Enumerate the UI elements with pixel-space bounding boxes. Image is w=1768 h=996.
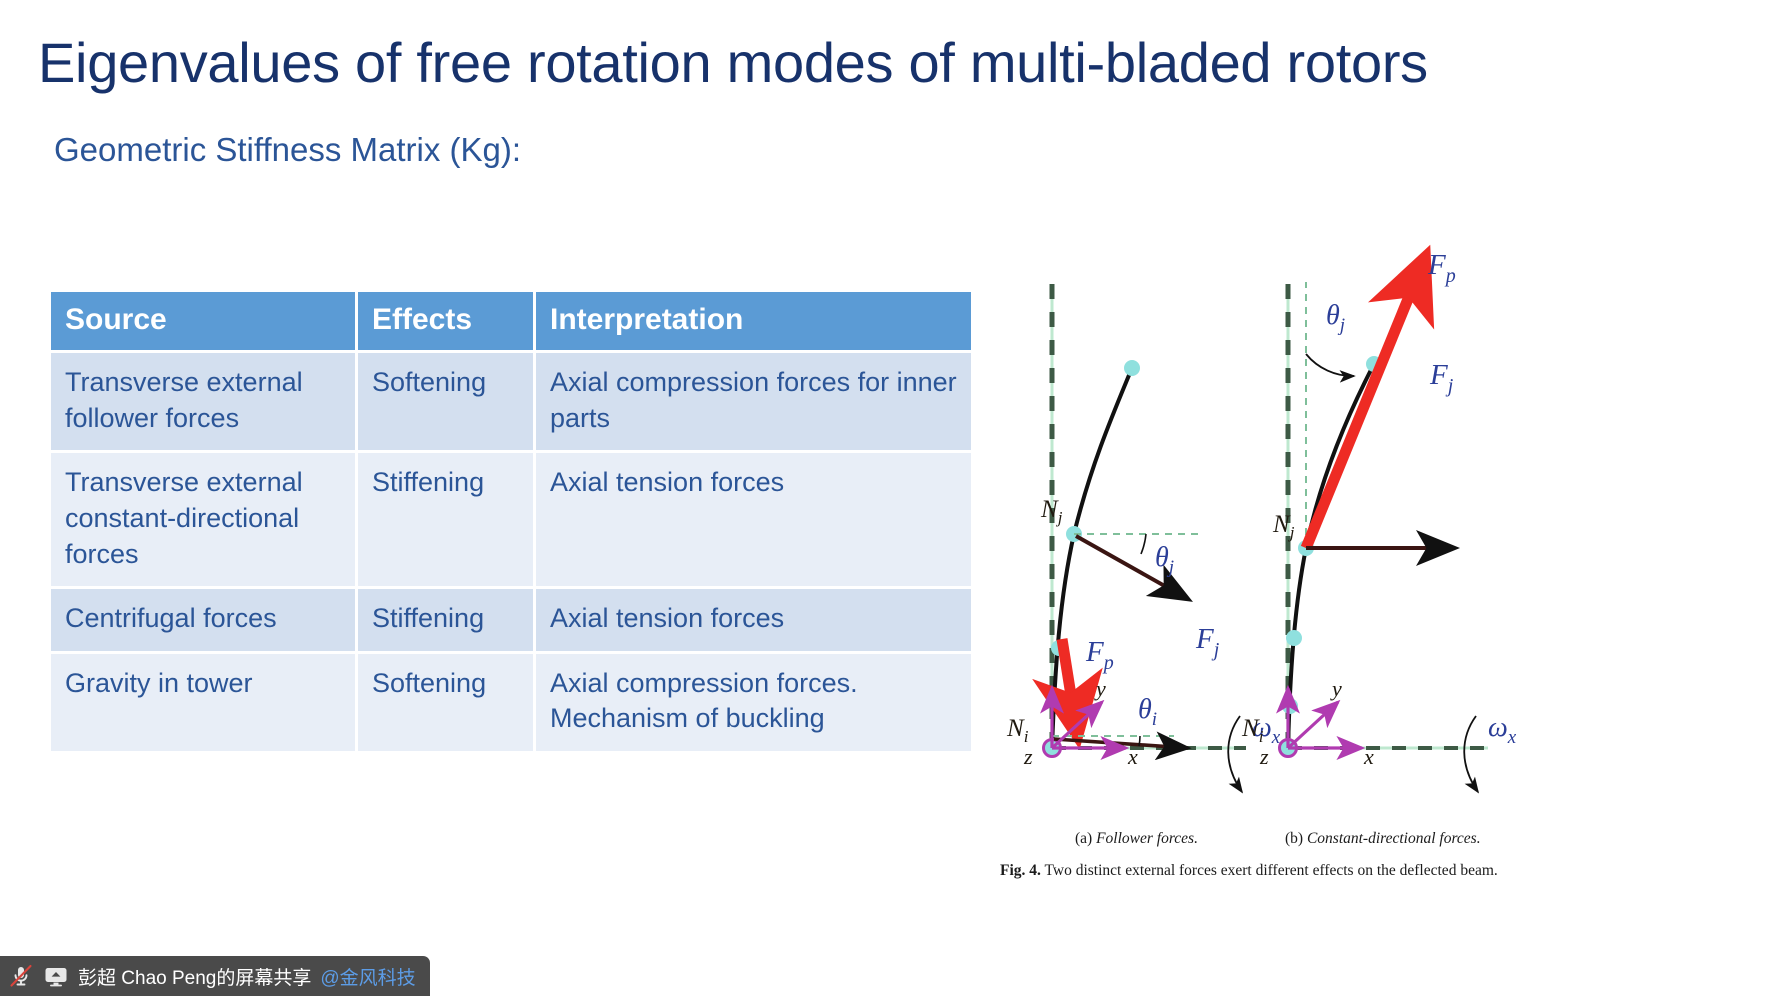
microphone-muted-icon[interactable] (8, 963, 34, 989)
label-node-i-a: Ni (1006, 715, 1029, 746)
label-theta-i-a: θi (1138, 694, 1157, 730)
theta-i-arc-a (1139, 736, 1140, 746)
figure-caption-prefix: Fig. 4. (1000, 862, 1041, 879)
subfigure-a-follower-forces: Nj Ni θj Fj Fp θi z y x ωx (1006, 284, 1281, 792)
label-force-j-a: Fj (1195, 623, 1220, 661)
table-row: Gravity in tower Softening Axial compres… (51, 651, 971, 751)
table-header-row: Source Effects Interpretation (51, 292, 971, 350)
cell-effects: Stiffening (358, 586, 536, 651)
table-row: Transverse external constant-directional… (51, 450, 971, 586)
force-fp-arrow-b (1306, 260, 1424, 548)
subfigure-caption-a: (a) Follower forces. (1075, 830, 1198, 848)
node-dot (1286, 630, 1302, 646)
theta-j-arc-a (1141, 534, 1146, 554)
figure-caption: Fig. 4. Two distinct external forces exe… (1000, 862, 1600, 880)
cell-interpretation: Axial tension forces (536, 450, 971, 586)
cell-effects: Softening (358, 350, 536, 450)
cell-source: Transverse external constant-directional… (51, 450, 358, 586)
label-force-p-a: Fp (1085, 636, 1114, 674)
column-header-effects: Effects (358, 292, 536, 350)
label-axis-x-a: x (1127, 744, 1138, 769)
omega-x-arc-a (1228, 716, 1242, 792)
cell-source: Transverse external follower forces (51, 350, 358, 450)
omega-x-arc-b (1464, 716, 1478, 792)
subfigure-label-b: (b) (1285, 830, 1303, 847)
label-theta-j-b: θj (1326, 300, 1345, 336)
label-force-p-b: Fp (1427, 249, 1456, 287)
cell-interpretation: Axial compression forces for inner parts (536, 350, 971, 450)
subfigure-text-b: Constant-directional forces. (1307, 830, 1481, 847)
label-axis-y-b: y (1330, 676, 1342, 701)
column-header-interpretation: Interpretation (536, 292, 971, 350)
cell-source: Centrifugal forces (51, 586, 358, 651)
subfigure-label-a: (a) (1075, 830, 1092, 847)
page-title: Eigenvalues of free rotation modes of mu… (38, 32, 1428, 94)
cell-effects: Stiffening (358, 450, 536, 586)
column-header-source: Source (51, 292, 358, 350)
label-omega-x-b: ωx (1488, 712, 1517, 748)
stiffness-sources-table: Source Effects Interpretation Transverse… (51, 292, 971, 751)
cell-interpretation: Axial compression forces. Mechanism of b… (536, 651, 971, 751)
subfigure-text-a: Follower forces. (1096, 830, 1198, 847)
screen-share-status-bar[interactable]: 彭超 Chao Peng的屏幕共享 @金风科技 (0, 956, 430, 996)
node-dot (1282, 698, 1298, 714)
deflected-beam-a (1052, 368, 1132, 748)
cell-source: Gravity in tower (51, 651, 358, 751)
subfigure-caption-b: (b) Constant-directional forces. (1285, 830, 1481, 848)
beam-force-figure: Nj Ni θj Fj Fp θi z y x ωx (1000, 236, 1560, 896)
label-axis-y-a: y (1094, 676, 1106, 701)
presentation-slide: Eigenvalues of free rotation modes of mu… (0, 0, 1768, 996)
figure-caption-text: Two distinct external forces exert diffe… (1045, 862, 1498, 879)
label-node-j-b: Nj (1272, 511, 1295, 542)
node-dot (1124, 360, 1140, 376)
label-theta-j-a: θj (1155, 542, 1174, 578)
share-org-label: @金风科技 (320, 963, 415, 990)
label-force-j-b: Fj (1429, 359, 1454, 397)
cell-effects: Softening (358, 651, 536, 751)
table-row: Transverse external follower forces Soft… (51, 350, 971, 450)
label-axis-z-b: z (1259, 744, 1269, 769)
subfigure-b-constant-directional-forces: Nj Ni θj Fp Fj z y x ωx (1241, 249, 1517, 792)
section-subtitle: Geometric Stiffness Matrix (Kg): (54, 130, 521, 170)
table-row: Centrifugal forces Stiffening Axial tens… (51, 586, 971, 651)
stiffness-sources-table-wrapper: Source Effects Interpretation Transverse… (51, 292, 971, 751)
force-fp-arrow-a (1062, 639, 1077, 733)
label-axis-x-b: x (1363, 744, 1374, 769)
theta-j-arc-b (1306, 354, 1354, 376)
label-node-j-a: Nj (1040, 496, 1063, 527)
screen-share-icon[interactable] (43, 963, 69, 989)
share-owner-label: 彭超 Chao Peng的屏幕共享 (78, 963, 311, 990)
cell-interpretation: Axial tension forces (536, 586, 971, 651)
label-axis-z-a: z (1023, 744, 1033, 769)
